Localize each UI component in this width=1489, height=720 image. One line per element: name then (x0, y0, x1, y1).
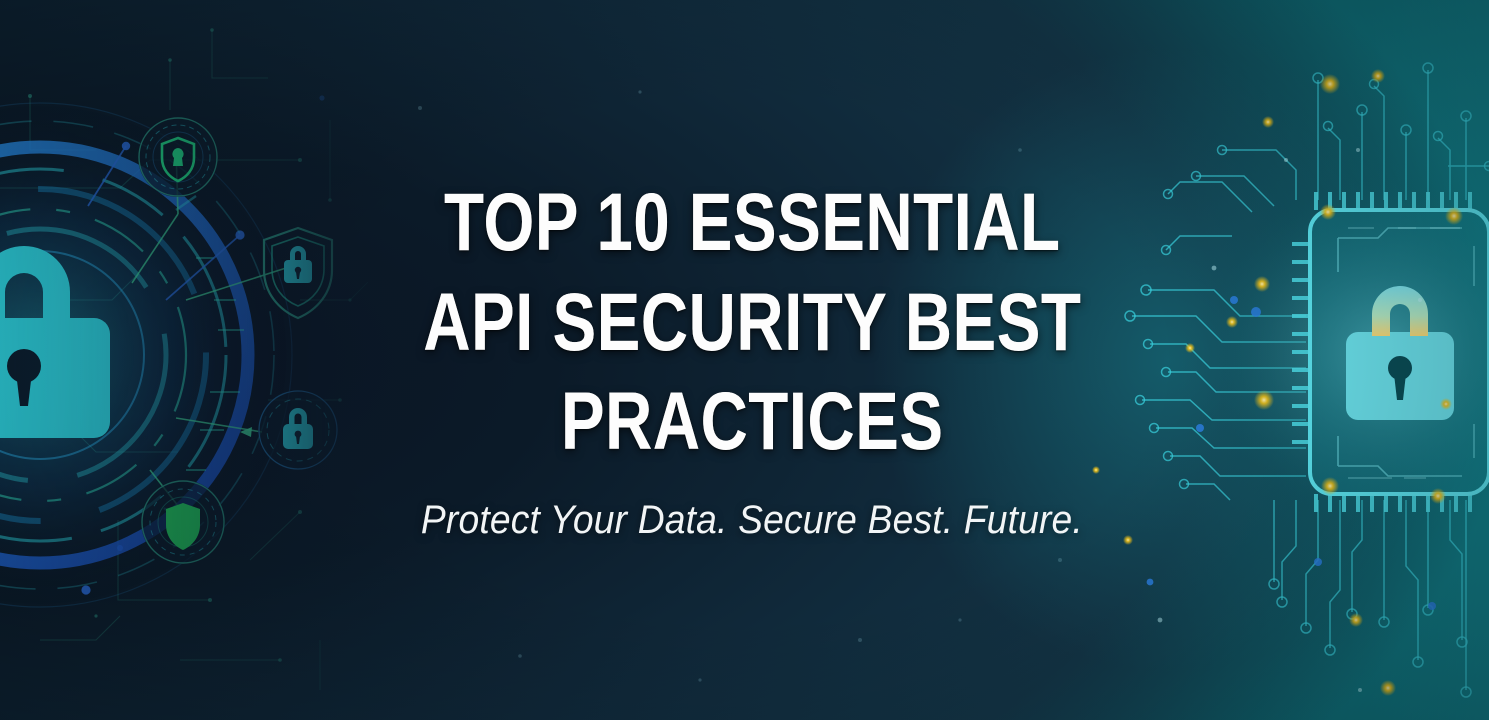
title-line-3: PRACTICES (561, 376, 944, 468)
banner-subtitle: Protect Your Data. Secure Best. Future. (421, 498, 1083, 543)
title-line-1: TOP 10 ESSENTIAL (444, 177, 1060, 269)
banner-text-block: TOP 10 ESSENTIAL API SECURITY BEST PRACT… (352, 0, 1152, 720)
api-security-banner: TOP 10 ESSENTIAL API SECURITY BEST PRACT… (0, 0, 1489, 720)
title-line-2: API SECURITY BEST (423, 277, 1081, 369)
